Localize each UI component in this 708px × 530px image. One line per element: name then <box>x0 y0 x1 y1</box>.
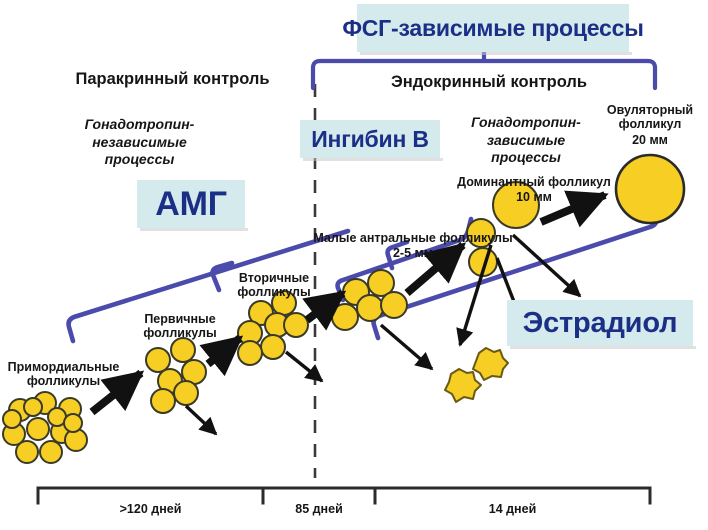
inhibin-b-marker-label: Ингибин В <box>311 126 429 153</box>
gonadotropin-independent-subheading: Гонадотропин- независимые процессы <box>72 116 207 169</box>
stage-label-primary: Первичные фолликулы <box>126 312 234 340</box>
fsh-banner-shadow <box>360 52 632 55</box>
fsh-banner: ФСГ-зависимые процессы <box>357 4 629 52</box>
estradiol-marker-label: Эстрадиол <box>523 307 678 340</box>
amh-marker-box: АМГ <box>137 180 245 228</box>
stage-label-ovulatory: Овуляторный фолликул <box>594 103 706 131</box>
stage-label-primordial: Примордиальные фолликулы <box>0 360 131 388</box>
amh-marker-label: АМГ <box>155 185 227 224</box>
follicle-cluster-primary <box>146 338 206 413</box>
timeline-segment-2-label: 85 дней <box>263 502 375 516</box>
timeline-axis <box>38 488 650 503</box>
diagram-root: ФСГ-зависимые процессы Паракринный контр… <box>0 0 708 530</box>
stage-label-dominant: Доминантный фолликул <box>434 175 634 189</box>
paracrine-control-heading: Паракринный контроль <box>60 70 285 88</box>
stage-size-small-antral: 2-5 мм <box>313 246 513 260</box>
stage-label-secondary: Вторичные фолликулы <box>222 271 326 299</box>
follicle-ovulatory <box>616 155 684 223</box>
estradiol-marker-shadow <box>510 346 696 349</box>
stage-size-ovulatory: 20 мм <box>594 133 706 147</box>
follicle-cluster-secondary <box>238 291 308 365</box>
stage-label-small-antral: Малые антральные фолликулы <box>313 231 513 245</box>
timeline-segment-1-label: >120 дней <box>38 502 263 516</box>
timeline-segment-3-label: 14 дней <box>375 502 650 516</box>
endocrine-control-heading: Эндокринный контроль <box>369 73 609 91</box>
estradiol-marker-box: Эстрадиол <box>507 300 693 346</box>
inhibin-b-marker-shadow <box>303 158 443 161</box>
follicle-atretic-group <box>445 348 508 402</box>
amh-marker-shadow <box>140 228 248 231</box>
gonadotropin-dependent-subheading: Гонадотропин- зависимые процессы <box>466 114 586 167</box>
stage-size-dominant: 10 мм <box>434 190 634 204</box>
inhibin-b-marker-box: Ингибин В <box>300 120 440 158</box>
fsh-banner-label: ФСГ-зависимые процессы <box>342 15 643 42</box>
follicle-cluster-primordial <box>3 392 87 463</box>
